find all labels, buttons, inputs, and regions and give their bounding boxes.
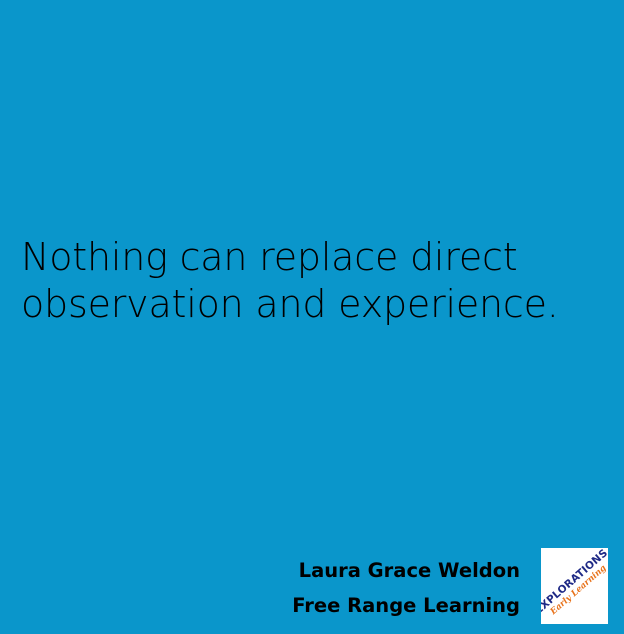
attribution-author: Laura Grace Weldon — [190, 553, 520, 588]
attribution-source: Free Range Learning — [190, 588, 520, 623]
quote-line-1: Nothing can replace direct — [21, 234, 581, 281]
explorations-early-learning-logo: EXPLORATIONS Early Learning — [541, 548, 608, 624]
quote-block: Nothing can replace direct observation a… — [21, 234, 581, 328]
logo-rotated-text: EXPLORATIONS Early Learning — [541, 548, 608, 624]
quote-line-2: observation and experience. — [21, 281, 581, 328]
attribution-block: Laura Grace Weldon Free Range Learning — [190, 553, 520, 623]
quote-slide: Nothing can replace direct observation a… — [0, 0, 624, 634]
